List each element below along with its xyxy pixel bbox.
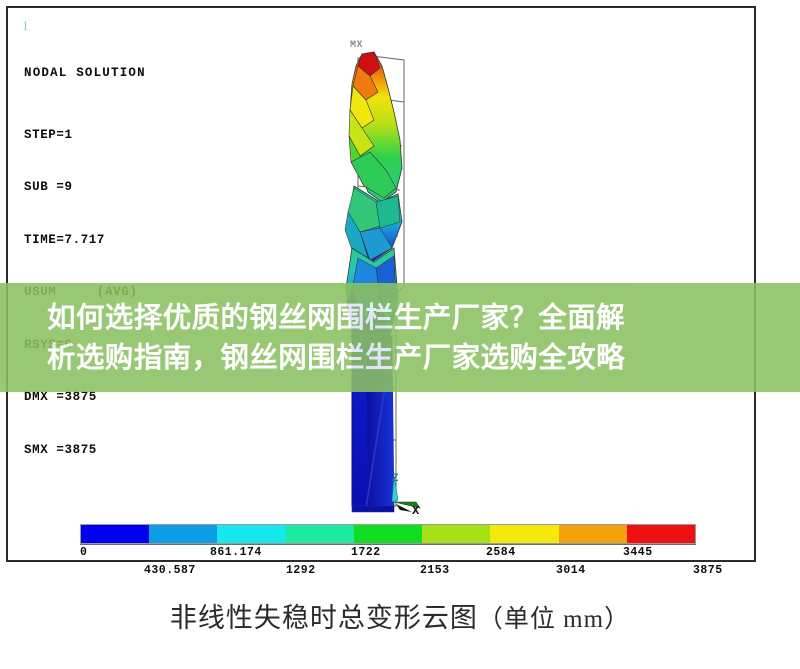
nodal-solution-legend: NODAL SOLUTION STEP=1 SUB =9 TIME=7.717 … bbox=[24, 30, 146, 494]
colorbar-band-6 bbox=[422, 525, 490, 543]
colorbar-band-3 bbox=[217, 525, 285, 543]
colorbar-band-2 bbox=[149, 525, 217, 543]
legend-row-time: TIME=7.717 bbox=[24, 232, 146, 250]
colorbar-tick-bottom-3: 3014 bbox=[556, 564, 586, 577]
colorbar-tick-top-1: 861.174 bbox=[210, 546, 262, 559]
deformed-model-contour: MX bbox=[308, 36, 478, 516]
caption-main: 非线性失稳时总变形云图 bbox=[170, 603, 478, 633]
axis-label-x: X bbox=[412, 504, 419, 518]
colorbar-tick-top-4: 3445 bbox=[623, 546, 653, 559]
contour-colorbar bbox=[80, 524, 696, 544]
colorbar-labels-bottom-row: 430.5871292215330143875 bbox=[68, 564, 800, 578]
colorbar-band-5 bbox=[354, 525, 422, 543]
colorbar-tick-top-3: 2584 bbox=[486, 546, 516, 559]
colorbar-tick-top-0: 0 bbox=[80, 546, 87, 559]
colorbar-band-8 bbox=[559, 525, 627, 543]
colorbar-tick-bottom-4: 3875 bbox=[693, 564, 723, 577]
colorbar-labels-top-row: 0861.174172225843445 bbox=[68, 546, 768, 560]
colorbar-band-1 bbox=[81, 525, 149, 543]
colorbar-tick-bottom-1: 1292 bbox=[286, 564, 316, 577]
legend-row-sub: SUB =9 bbox=[24, 179, 146, 197]
legend-row-step: STEP=1 bbox=[24, 127, 146, 145]
colorbar-tick-bottom-0: 430.587 bbox=[144, 564, 196, 577]
colorbar-band-9 bbox=[627, 525, 695, 543]
max-location-marker: MX bbox=[350, 40, 363, 51]
caption-unit: （单位 mm） bbox=[478, 606, 630, 633]
colorbar-band-4 bbox=[286, 525, 354, 543]
promo-overlay-banner: 如何选择优质的钢丝网围栏生产厂家？全面解 析选购指南，钢丝网围栏生产厂家选购全攻… bbox=[0, 283, 800, 392]
promo-line-2: 析选购指南，钢丝网围栏生产厂家选购全攻略 bbox=[47, 338, 753, 378]
promo-overlay-text: 如何选择优质的钢丝网围栏生产厂家？全面解 析选购指南，钢丝网围栏生产厂家选购全攻… bbox=[47, 298, 753, 378]
figure-caption: 非线性失稳时总变形云图（单位 mm） bbox=[0, 596, 800, 635]
contour-plot-svg bbox=[308, 36, 478, 516]
legend-row-smx: SMX =3875 bbox=[24, 442, 146, 460]
colorbar-tick-bottom-2: 2153 bbox=[420, 564, 450, 577]
colorbar-band-7 bbox=[490, 525, 558, 543]
colorbar-tick-top-2: 1722 bbox=[351, 546, 381, 559]
promo-line-1: 如何选择优质的钢丝网围栏生产厂家？全面解 bbox=[47, 298, 753, 338]
axis-label-z: Z bbox=[392, 473, 399, 485]
legend-title: NODAL SOLUTION bbox=[24, 65, 146, 83]
